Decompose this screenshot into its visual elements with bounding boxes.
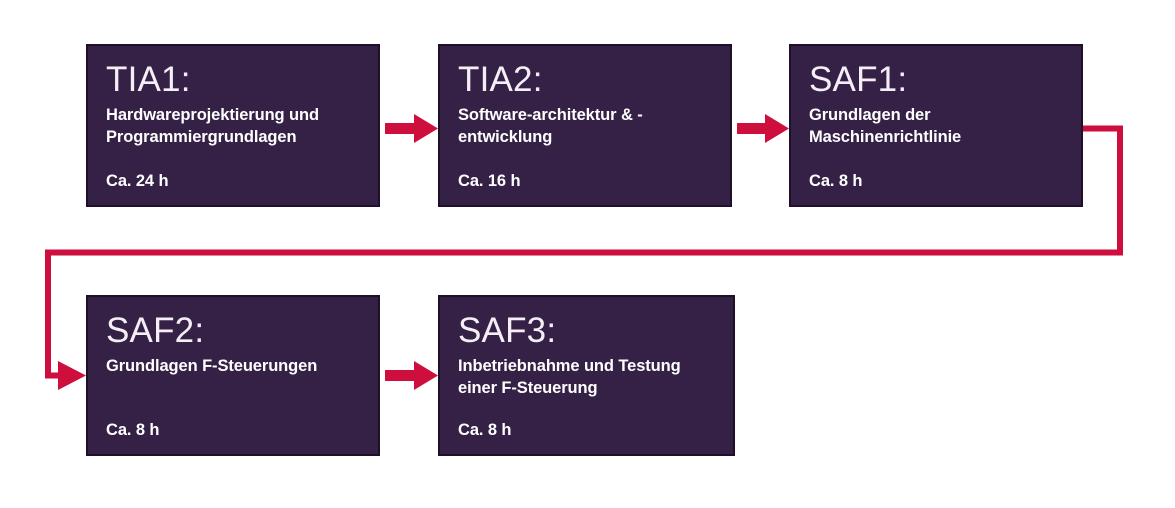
course-description: Inbetriebnahme und Testung einer F-Steue… [458, 356, 715, 400]
course-description: Grundlagen F-Steuerungen [106, 356, 360, 378]
course-duration: Ca. 16 h [458, 172, 520, 191]
course-description: Grundlagen der Maschinenrichtlinie [809, 105, 1063, 149]
course-title: SAF3: [458, 313, 715, 350]
course-node-tia1[interactable]: TIA1: Hardwareprojektierung und Programm… [86, 44, 380, 207]
course-description: Hardwareprojektierung und Programmiergru… [106, 105, 360, 149]
course-node-saf1[interactable]: SAF1: Grundlagen der Maschinenrichtlinie… [789, 44, 1083, 207]
course-node-tia2[interactable]: TIA2: Software-architektur & -entwicklun… [438, 44, 732, 207]
course-description: Software-architektur & -entwicklung [458, 105, 712, 149]
course-title: SAF2: [106, 313, 360, 350]
course-duration: Ca. 8 h [106, 421, 159, 440]
connector-tia1-to-tia2 [385, 114, 438, 143]
diagram-canvas: TIA1: Hardwareprojektierung und Programm… [0, 0, 1175, 508]
course-title: TIA2: [458, 62, 712, 99]
course-title: SAF1: [809, 62, 1063, 99]
course-duration: Ca. 24 h [106, 172, 168, 191]
course-duration: Ca. 8 h [458, 421, 511, 440]
course-node-saf2[interactable]: SAF2: Grundlagen F-Steuerungen Ca. 8 h [86, 295, 380, 456]
course-duration: Ca. 8 h [809, 172, 862, 191]
course-title: TIA1: [106, 62, 360, 99]
course-node-saf3[interactable]: SAF3: Inbetriebnahme und Testung einer F… [438, 295, 735, 456]
connector-tia2-to-saf1 [737, 114, 789, 143]
connector-saf2-to-saf3 [385, 361, 438, 390]
